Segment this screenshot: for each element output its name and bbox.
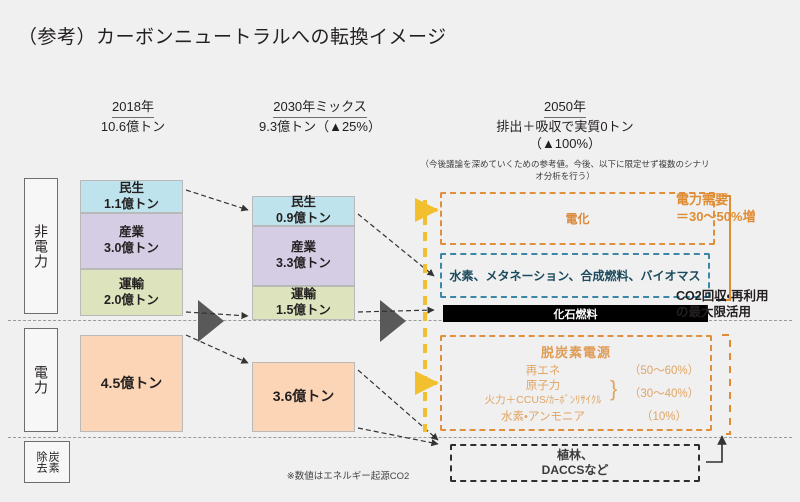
bar-2030-unyu-value: 1.5億トン xyxy=(276,303,331,319)
divider-electric-removal xyxy=(8,437,792,438)
dp-row-0-share: （50～60%） xyxy=(618,364,710,379)
row-label-electric: 電力 xyxy=(24,328,58,432)
bar-2030-unyu-name: 運輸 xyxy=(291,287,316,303)
bar-2018-electricity-value: 4.5億トン xyxy=(101,375,162,393)
box-decarbonized-power-heading: 脱炭素電源 xyxy=(442,342,710,361)
box-carbon-removal: 植林、 DACCSなど xyxy=(450,444,700,482)
row-label-carbon-removal-right: 炭素 xyxy=(47,451,59,473)
header-2018-year: 2018年 xyxy=(112,98,154,118)
row-label-non-electric: 非電力 xyxy=(24,178,58,314)
header-2030-year: 2030年ミックス xyxy=(273,98,367,118)
dp-row-2-share: （30～40%） xyxy=(618,387,710,402)
bar-2030-minsei: 民生 0.9億トン xyxy=(252,196,355,226)
header-2030-value: 9.3億トン（▲25%） xyxy=(240,118,400,136)
row-label-carbon-removal-left: 除去 xyxy=(35,451,47,473)
bar-2018-sangyo-value: 3.0億トン xyxy=(104,241,159,257)
header-2018-value: 10.6億トン xyxy=(78,118,188,136)
column-header-2030: 2030年ミックス 9.3億トン（▲25%） xyxy=(240,96,400,135)
dp-brace: } xyxy=(610,378,617,400)
box-decarbonized-power: 脱炭素電源 再エネ （50～60%） 原子力 火力＋CCUS/ｶｰﾎﾞﾝﾘｻｲｸ… xyxy=(440,335,712,431)
bar-2030-electricity: 3.6億トン xyxy=(252,362,355,432)
footnote: ※数値はエネルギー起源CO2 xyxy=(248,468,448,482)
bar-2018-minsei-value: 1.1億トン xyxy=(104,197,159,213)
box-fossil-fuel-label: 化石燃料 xyxy=(554,306,598,322)
bar-2018-minsei-name: 民生 xyxy=(119,181,144,197)
bar-2018-sangyo: 産業 3.0億トン xyxy=(80,213,183,269)
transition-arrow-2030-2050-icon xyxy=(380,300,406,342)
transition-arrow-2018-2030-icon xyxy=(198,300,224,342)
bar-2018-unyu-name: 運輸 xyxy=(119,277,144,293)
bar-2030-sangyo-name: 産業 xyxy=(291,240,316,256)
dp-row-3-share: （10%） xyxy=(618,410,710,425)
box-hydrogen-fuels-label: 水素、メタネーション、合成燃料、バイオマス xyxy=(449,267,700,284)
box-electrification-label: 電化 xyxy=(565,210,589,227)
header-2050-value: 排出＋吸収で実質0トン xyxy=(420,118,710,136)
annotation-power-demand-line1: 電力需要 xyxy=(676,192,800,209)
bar-2030-electricity-value: 3.6億トン xyxy=(273,388,334,406)
dp-row-3-label: 水素・アンモニア xyxy=(468,410,618,425)
annotation-co2-capture-line2: の最大限活用 xyxy=(676,304,800,320)
bar-2018-sangyo-name: 産業 xyxy=(119,225,144,241)
row-label-carbon-removal: 除去 炭素 xyxy=(24,441,70,483)
annotation-power-demand: 電力需要 ＝30～50%増 xyxy=(676,192,800,226)
box-fossil-fuel: 化石燃料 xyxy=(443,305,708,322)
dp-row-2-label: 火力＋CCUS/ｶｰﾎﾞﾝﾘｻｲｸﾙ xyxy=(468,394,618,408)
column-header-2018: 2018年 10.6億トン xyxy=(78,96,188,135)
page-title: （参考）カーボンニュートラルへの転換イメージ xyxy=(18,22,447,49)
bar-2030-sangyo: 産業 3.3億トン xyxy=(252,226,355,286)
dp-row-1-label: 原子力 xyxy=(468,379,618,394)
box-hydrogen-fuels: 水素、メタネーション、合成燃料、バイオマス xyxy=(440,253,710,298)
row-label-electric-text: 電力 xyxy=(33,365,49,395)
bar-2018-electricity: 4.5億トン xyxy=(80,335,183,432)
bar-2018-minsei: 民生 1.1億トン xyxy=(80,180,183,213)
box-carbon-removal-line1: 植林、 xyxy=(557,448,593,463)
bar-2030-minsei-name: 民生 xyxy=(291,195,316,211)
bar-2030-sangyo-value: 3.3億トン xyxy=(276,256,331,272)
bar-2018-unyu: 運輸 2.0億トン xyxy=(80,269,183,316)
row-label-non-electric-text: 非電力 xyxy=(33,224,49,269)
box-electrification: 電化 xyxy=(440,192,715,245)
annotation-power-demand-line2: ＝30～50%増 xyxy=(676,209,800,226)
header-2050-note: （今後議論を深めていくための参考値。今後、以下に限定せず複数のシナリオ分析を行う… xyxy=(420,158,710,183)
diagram-canvas: （参考）カーボンニュートラルへの転換イメージ 2018年 10.6億トン 203… xyxy=(0,0,800,502)
bar-2030-unyu: 運輸 1.5億トン xyxy=(252,286,355,320)
annotation-co2-capture-line1: CO2回収・再利用 xyxy=(676,288,800,304)
annotation-co2-capture: CO2回収・再利用 の最大限活用 xyxy=(676,288,800,321)
column-header-2050: 2050年 排出＋吸収で実質0トン （▲100%） （今後議論を深めていくための… xyxy=(420,96,710,182)
bar-2018-unyu-value: 2.0億トン xyxy=(104,293,159,309)
bar-2030-minsei-value: 0.9億トン xyxy=(276,211,331,227)
header-2050-value2: （▲100%） xyxy=(420,135,710,153)
dp-row-0-label: 再エネ xyxy=(468,364,618,379)
header-2050-year: 2050年 xyxy=(544,98,586,118)
box-carbon-removal-line2: DACCSなど xyxy=(542,463,609,478)
